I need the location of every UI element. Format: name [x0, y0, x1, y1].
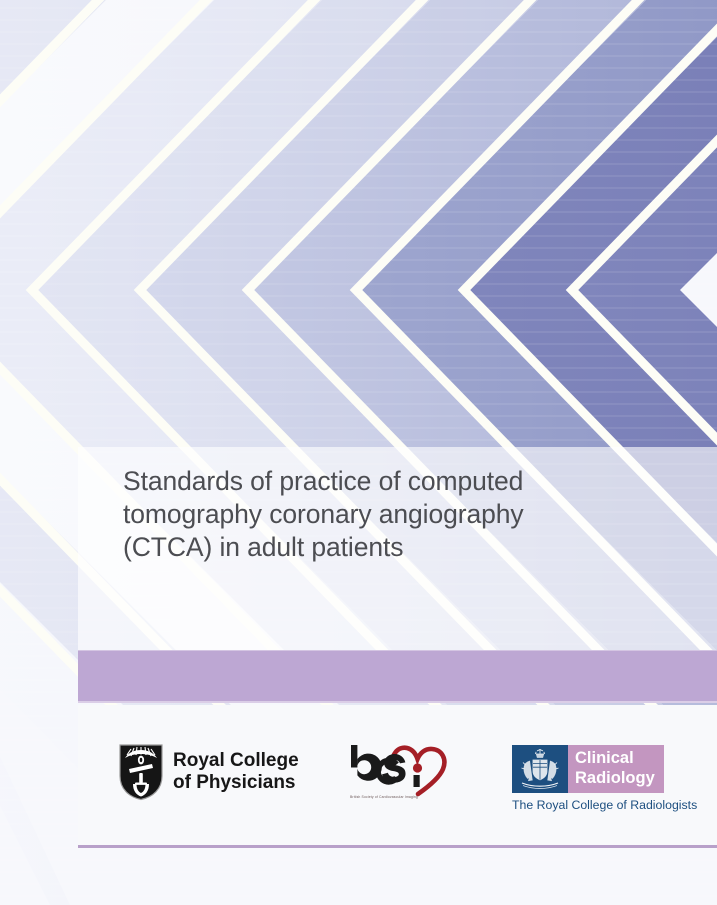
logo-bsci: British Society of Cardiovascular Imagin… [346, 733, 456, 811]
rcr-name-text: Clinical Radiology [575, 749, 664, 788]
logo-panel: Royal College of Physicians [78, 705, 717, 845]
logo-clinical-radiology: Clinical Radiology The Royal College of … [512, 745, 672, 812]
mauve-band-bottom-edge [78, 701, 717, 703]
document-cover-page: Standards of practice of computed tomogr… [0, 0, 717, 905]
rcr-strapline: The Royal College of Radiologists [512, 798, 672, 812]
mauve-divider-band [78, 650, 717, 703]
logo-royal-college-of-physicians: Royal College of Physicians [118, 743, 299, 801]
rcr-name-box: Clinical Radiology [568, 745, 664, 793]
mauve-band-top-edge [78, 650, 717, 651]
bsci-tagline: British Society of Cardiovascular Imagin… [350, 795, 418, 800]
rcr-logo-boxes: Clinical Radiology [512, 745, 664, 793]
logo-row: Royal College of Physicians [78, 705, 717, 845]
rcp-wordmark: Royal College of Physicians [173, 750, 299, 794]
bsci-heart-icon [346, 733, 456, 797]
rcr-coat-of-arms-icon [512, 745, 568, 793]
title-panel: Standards of practice of computed tomogr… [78, 447, 717, 650]
logo-panel-underline [78, 845, 717, 848]
rcp-shield-crest-icon [118, 743, 164, 801]
page-title: Standards of practice of computed tomogr… [123, 465, 657, 564]
